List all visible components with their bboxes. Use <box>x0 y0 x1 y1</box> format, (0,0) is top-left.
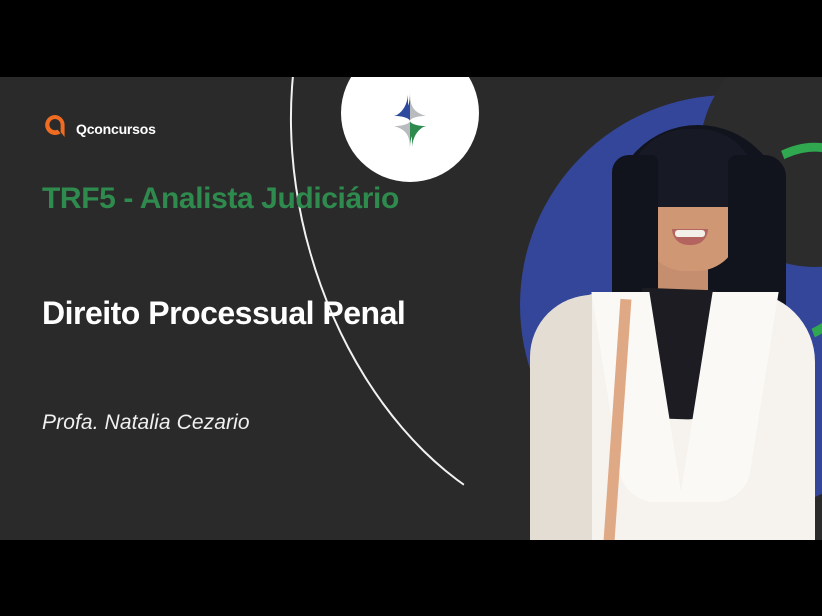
video-frame: Qconcursos TRF5 - Analista Judiciário Di… <box>0 0 822 616</box>
qconcursos-brand: Qconcursos <box>42 113 156 144</box>
course-title: TRF5 - Analista Judiciário <box>42 182 399 216</box>
letterbox-bottom <box>0 540 822 616</box>
presenter-teeth <box>675 230 705 237</box>
qconcursos-q-logo-icon <box>42 113 68 144</box>
instructor-name: Profa. Natalia Cezario <box>42 411 250 435</box>
presenter-photo <box>500 77 822 540</box>
letterbox-top <box>0 0 822 77</box>
presenter-jacket-shadow <box>530 295 592 540</box>
trf5-cross-icon <box>377 77 443 154</box>
subject-title: Direito Processual Penal <box>42 295 405 332</box>
lesson-slide: Qconcursos TRF5 - Analista Judiciário Di… <box>0 77 822 540</box>
qconcursos-wordmark: Qconcursos <box>76 121 156 137</box>
